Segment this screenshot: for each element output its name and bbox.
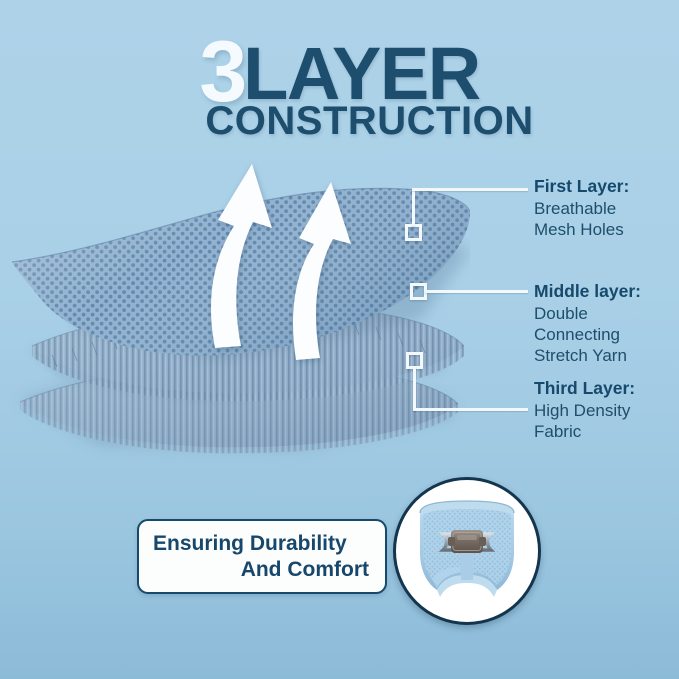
callout-body-line: Fabric — [534, 421, 635, 442]
infographic-canvas: 3 LAYER CONSTRUCTION — [0, 0, 679, 679]
callout-heading: First Layer: — [534, 176, 629, 198]
callout-middle-layer: Middle layer: Double Connecting Stretch … — [534, 281, 641, 366]
callout-body-line: Mesh Holes — [534, 219, 629, 240]
title-subtitle: CONSTRUCTION — [0, 101, 679, 141]
tagline-line-1: Ensuring Durability — [153, 531, 369, 557]
connector-line-horizontal — [425, 290, 528, 293]
connector-line-horizontal — [413, 408, 528, 411]
callout-heading: Third Layer: — [534, 378, 635, 400]
page-title: 3 LAYER CONSTRUCTION — [0, 34, 679, 141]
callout-first-layer: First Layer: Breathable Mesh Holes — [534, 176, 629, 240]
callout-third-layer: Third Layer: High Density Fabric — [534, 378, 635, 442]
callout-body-line: Connecting — [534, 324, 641, 345]
title-word-layer: LAYER — [243, 44, 480, 105]
callout-body-line: Stretch Yarn — [534, 345, 641, 366]
callout-body-line: Breathable — [534, 198, 629, 219]
callout-body-line: High Density — [534, 400, 635, 421]
callout-heading: Middle layer: — [534, 281, 641, 303]
title-number: 3 — [199, 37, 243, 108]
dog-harness-illustration — [396, 480, 538, 622]
title-main-row: 3 LAYER — [0, 34, 679, 105]
square-marker-icon — [405, 224, 422, 241]
connector-line-vertical — [413, 366, 416, 411]
callout-body-line: Double — [534, 303, 641, 324]
connector-line-vertical — [412, 188, 415, 226]
connector-line-horizontal — [412, 188, 528, 191]
tagline-banner: Ensuring Durability And Comfort — [137, 519, 387, 594]
product-photo — [393, 477, 541, 625]
tagline-line-2: And Comfort — [153, 557, 369, 583]
fabric-layers-illustration — [0, 150, 470, 480]
